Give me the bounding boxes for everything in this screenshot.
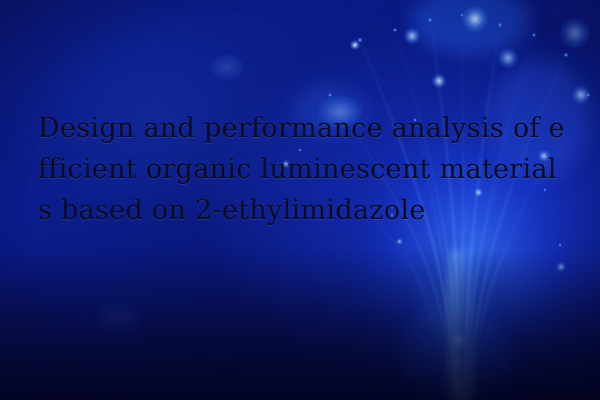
- hero-banner: Design and performance analysis of effic…: [0, 0, 600, 400]
- bottom-shadow-overlay: [0, 250, 600, 400]
- title-container: Design and performance analysis of effic…: [38, 108, 568, 231]
- banner-title: Design and performance analysis of effic…: [38, 108, 568, 231]
